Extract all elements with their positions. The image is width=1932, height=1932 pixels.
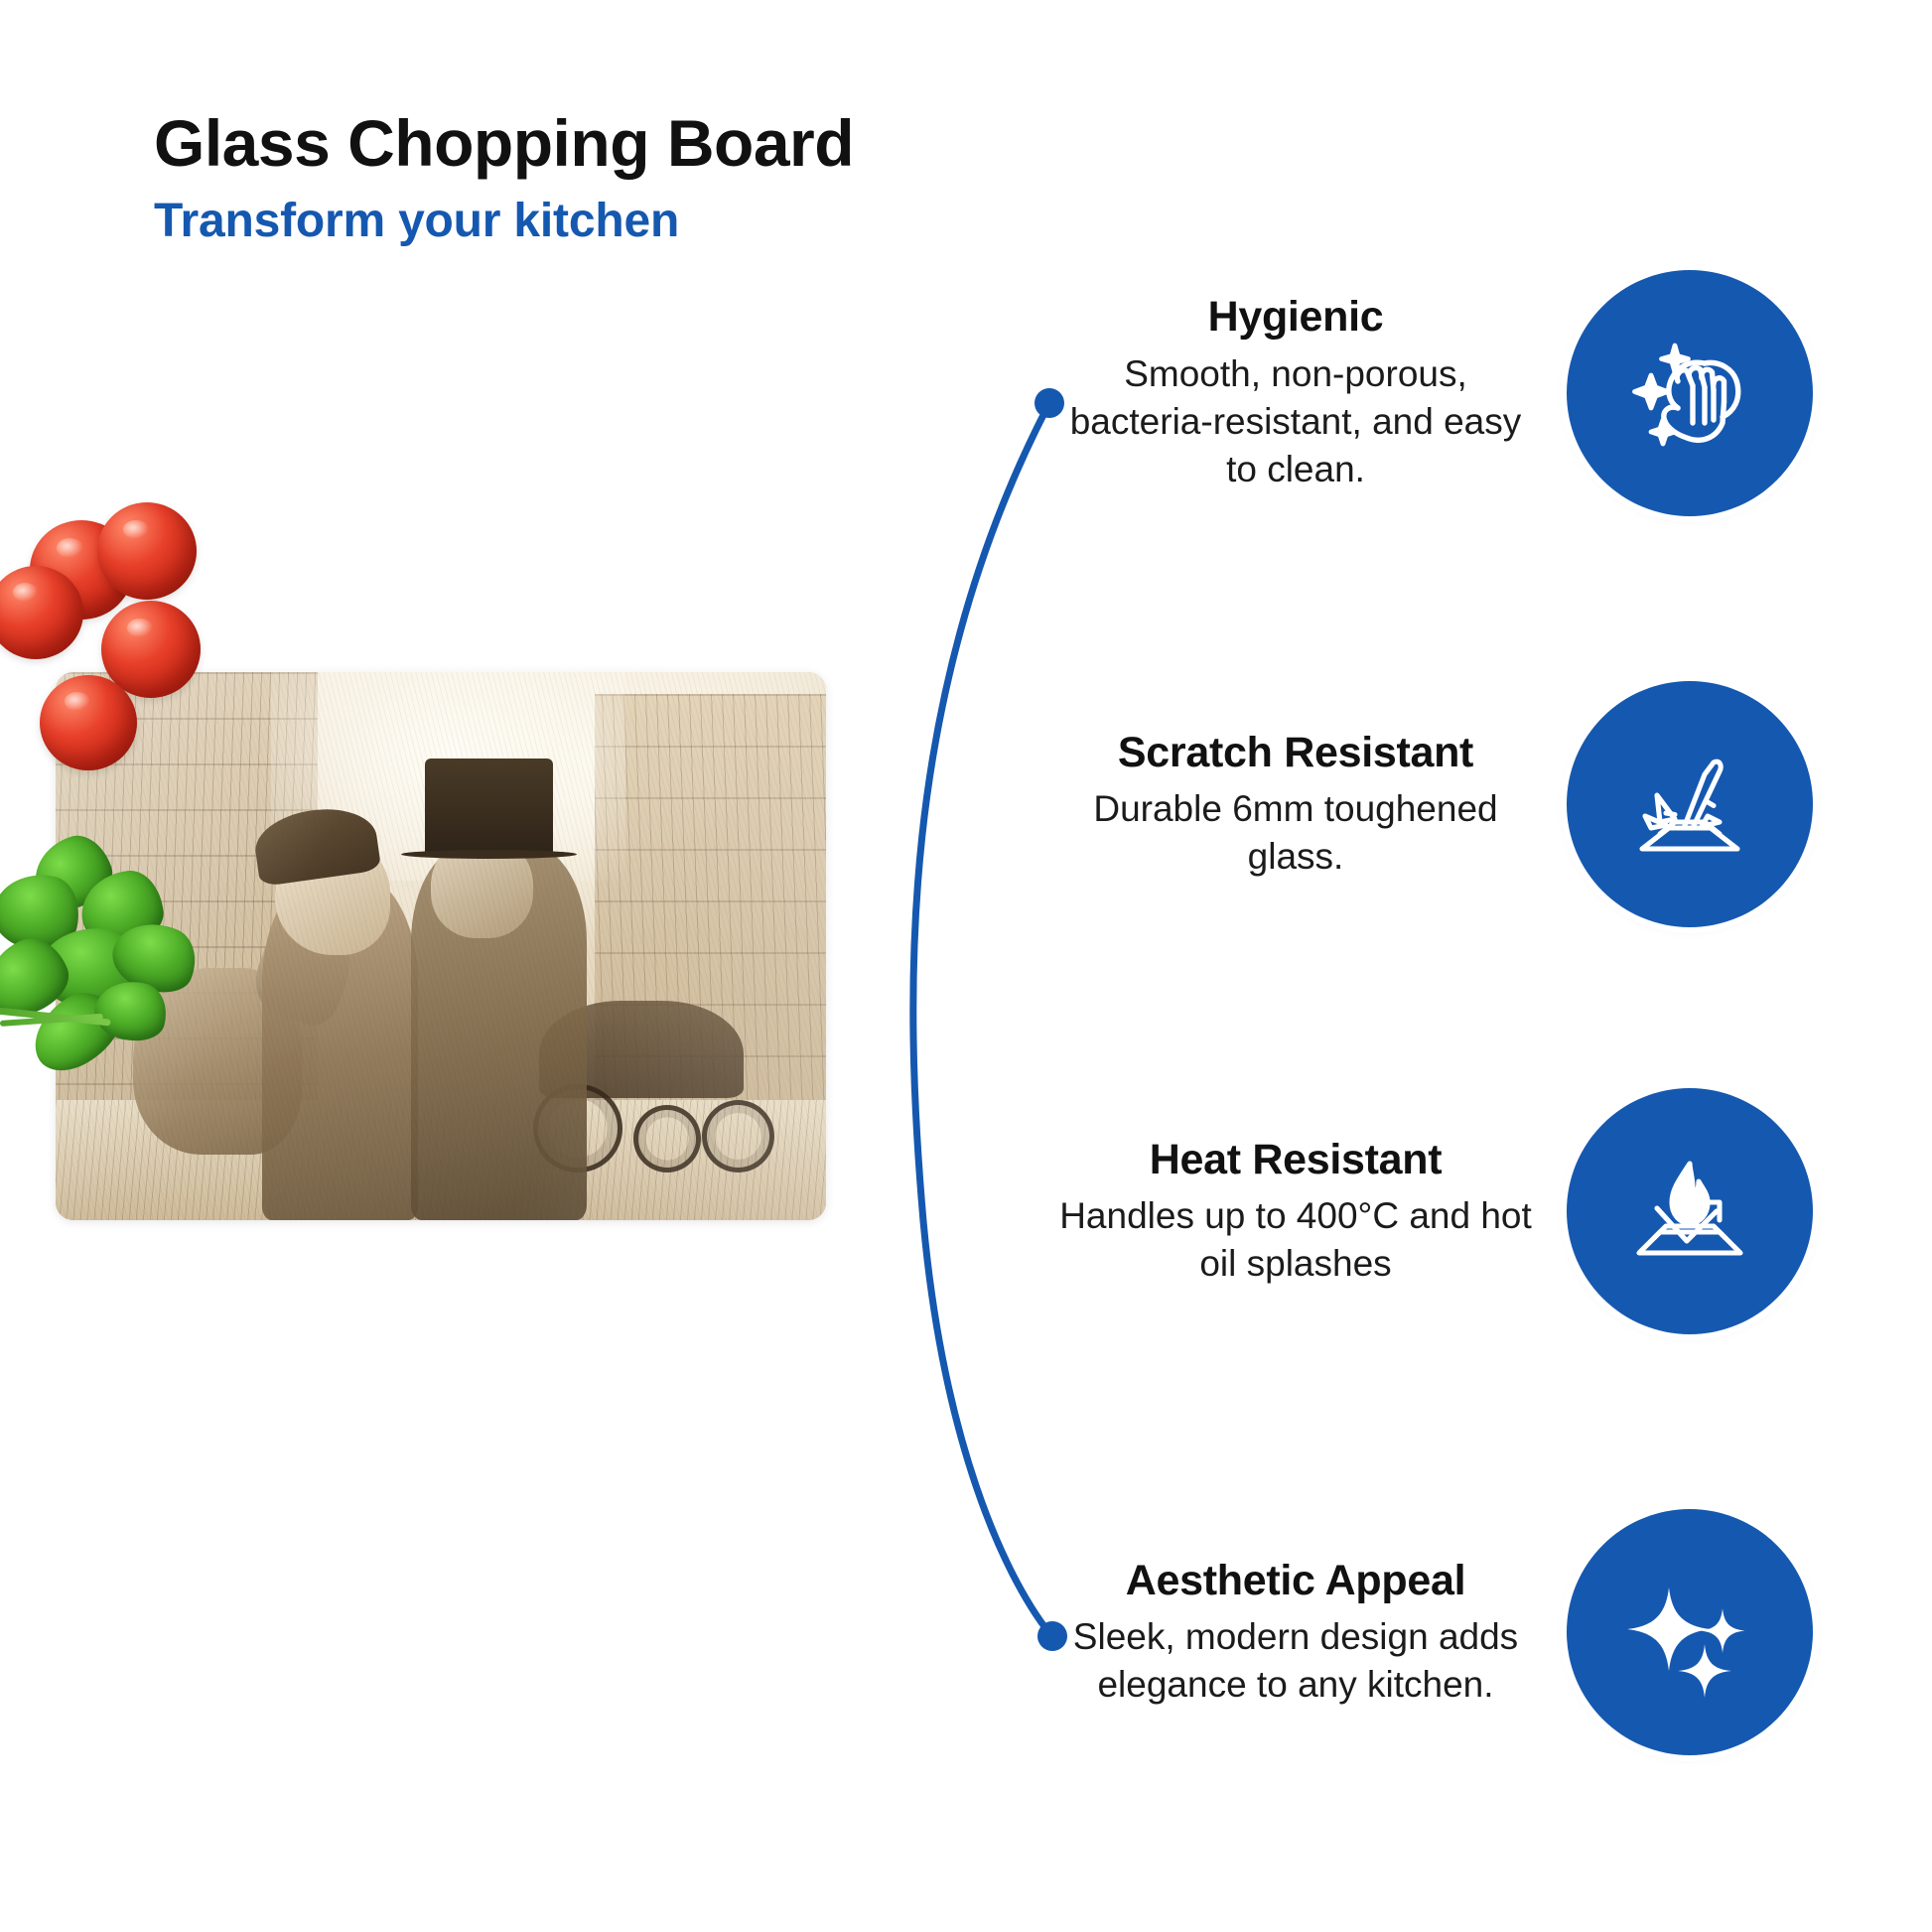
feature-description: Handles up to 400°C and hot oil splashes bbox=[1052, 1192, 1539, 1288]
parsley-icon bbox=[0, 832, 284, 1080]
feature-text-block: Aesthetic Appeal Sleek, modern design ad… bbox=[1052, 1556, 1539, 1710]
feature-title: Heat Resistant bbox=[1052, 1135, 1539, 1185]
kissing-couple-illustration bbox=[248, 792, 587, 1220]
tomato-icon bbox=[40, 675, 137, 770]
top-hat bbox=[425, 759, 554, 853]
knife-scratch-surface-icon bbox=[1567, 681, 1813, 927]
hand-wipe-sparkle-icon bbox=[1567, 270, 1813, 516]
flame-deflect-surface-icon bbox=[1567, 1088, 1813, 1334]
feature-text-block: Heat Resistant Handles up to 400°C and h… bbox=[1052, 1135, 1539, 1289]
feature-item-aesthetic-appeal: Aesthetic Appeal Sleek, modern design ad… bbox=[1052, 1509, 1932, 1755]
feature-description: Sleek, modern design adds elegance to an… bbox=[1052, 1613, 1539, 1709]
sparkles-icon bbox=[1567, 1509, 1813, 1755]
feature-description: Smooth, non-porous, bacteria-resistant, … bbox=[1052, 350, 1539, 493]
carriage-wheel bbox=[702, 1100, 774, 1173]
feature-title: Hygienic bbox=[1052, 292, 1539, 343]
feature-item-heat-resistant: Heat Resistant Handles up to 400°C and h… bbox=[1052, 1088, 1932, 1334]
feature-item-scratch-resistant: Scratch Resistant Durable 6mm toughened … bbox=[1052, 681, 1932, 927]
feature-title: Scratch Resistant bbox=[1052, 728, 1539, 778]
feature-text-block: Scratch Resistant Durable 6mm toughened … bbox=[1052, 728, 1539, 882]
feature-item-hygienic: Hygienic Smooth, non-porous, bacteria-re… bbox=[1052, 270, 1932, 516]
carriage-wheel bbox=[633, 1105, 701, 1173]
feature-description: Durable 6mm toughened glass. bbox=[1052, 785, 1539, 881]
feature-title: Aesthetic Appeal bbox=[1052, 1556, 1539, 1606]
feature-text-block: Hygienic Smooth, non-porous, bacteria-re… bbox=[1052, 292, 1539, 493]
connector-path bbox=[913, 407, 1049, 1633]
feature-list: Hygienic Smooth, non-porous, bacteria-re… bbox=[1052, 0, 1932, 1932]
product-image-composition bbox=[0, 596, 894, 1330]
tomato-icon bbox=[97, 502, 197, 600]
